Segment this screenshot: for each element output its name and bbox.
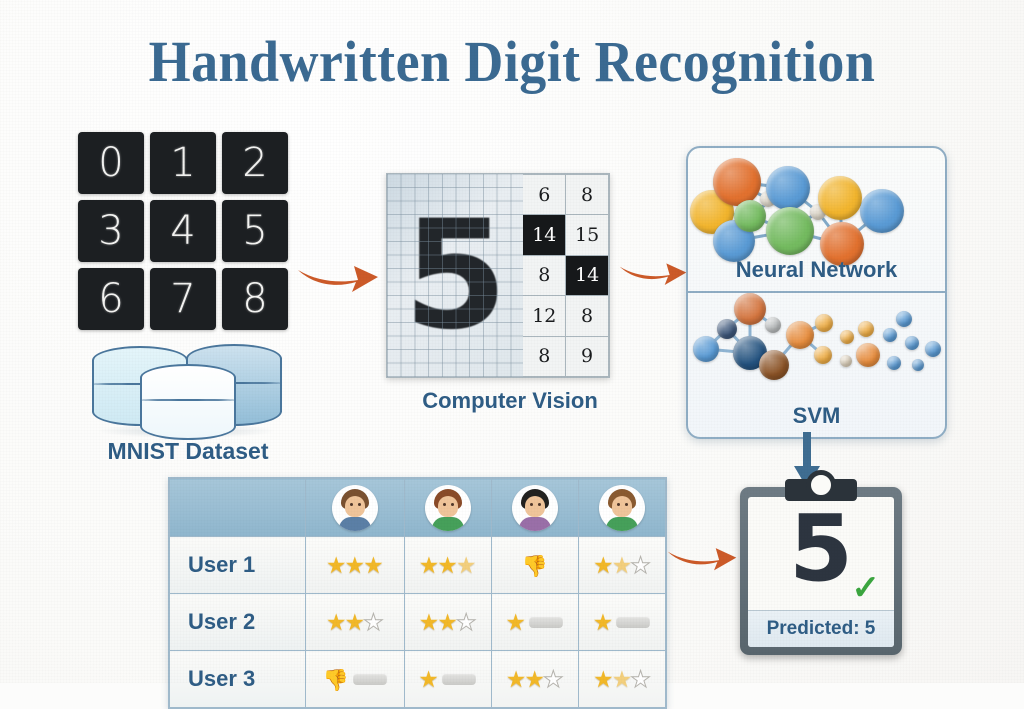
prediction-clipboard: 5 ✓ Predicted: 5: [740, 487, 902, 655]
star-full-icon: ★: [418, 668, 439, 691]
neural-network-section: Neural Network: [688, 148, 945, 293]
row-label: User 3: [170, 651, 306, 708]
svm-point: [815, 314, 833, 332]
neural-node: [734, 200, 766, 232]
rating-cell[interactable]: ★★★: [578, 651, 665, 708]
table-row[interactable]: User 2★★★★★★★★: [170, 594, 666, 651]
digit-tile: 3: [78, 200, 144, 262]
digit-tile: 5: [222, 200, 288, 262]
pixel-grid-lines: [387, 174, 523, 377]
rating-cell[interactable]: 👍: [306, 651, 405, 708]
star-empty-icon: ★: [630, 554, 651, 577]
placeholder-bar: [616, 616, 650, 628]
svm-label: SVM: [688, 403, 945, 429]
matrix-cell: 15: [566, 215, 608, 254]
svm-point: [896, 311, 912, 327]
svm-point: [734, 293, 766, 325]
digit-tile: 4: [150, 200, 216, 262]
page-title: Handwritten Digit Recognition: [36, 28, 988, 95]
svm-point: [759, 350, 789, 380]
svm-point: [765, 317, 781, 333]
svm-point: [693, 336, 719, 362]
row-label: User 1: [170, 537, 306, 594]
table-row[interactable]: User 1★★★★★★👍★★★: [170, 537, 666, 594]
database-cylinders-icon: [88, 338, 288, 430]
clipboard-page: 5 ✓ Predicted: 5: [748, 497, 894, 647]
star-empty-icon: ★: [363, 611, 384, 634]
svm-point: [814, 346, 832, 364]
star-full-icon: ★: [437, 554, 458, 577]
computer-vision-caption: Computer Vision: [380, 388, 640, 414]
row-label: User 2: [170, 594, 306, 651]
star-half-icon: ★: [612, 554, 633, 577]
rating-cell[interactable]: ★: [491, 594, 578, 651]
neural-node: [860, 189, 904, 233]
digit-tile: 7: [150, 268, 216, 330]
star-half-icon: ★: [612, 668, 633, 691]
digit-tile: 8: [222, 268, 288, 330]
rating-cell[interactable]: ★★★: [306, 537, 405, 594]
rating-cell[interactable]: ★★★: [404, 537, 491, 594]
matrix-cell: 8: [523, 256, 565, 295]
matrix-cell: 8: [566, 175, 608, 214]
computer-vision-panel: 5 68141581412889: [386, 173, 610, 378]
svm-point: [840, 355, 852, 367]
avatar: [332, 485, 378, 531]
matrix-cell: 8: [523, 337, 565, 376]
thumbs-down-icon: 👍: [522, 555, 548, 576]
thumbs-down-icon: 👍: [323, 669, 349, 690]
svm-point: [883, 328, 897, 342]
star-half-icon: ★: [456, 554, 477, 577]
digit-tile: 1: [150, 132, 216, 194]
models-card: Neural Network SVM: [686, 146, 947, 439]
placeholder-bar: [353, 673, 387, 685]
check-mark-icon: ✓: [852, 571, 881, 605]
neural-node: [766, 207, 814, 255]
star-empty-icon: ★: [630, 668, 651, 691]
avatar: [512, 485, 558, 531]
digit-tile: 2: [222, 132, 288, 194]
avatar-column-header[interactable]: [306, 479, 405, 537]
mnist-digit-grid: 012345678: [78, 132, 296, 330]
star-empty-icon: ★: [543, 668, 564, 691]
svm-point: [717, 319, 737, 339]
svm-point: [912, 359, 924, 371]
table-row[interactable]: User 3👍★★★★★★★: [170, 651, 666, 708]
matrix-cell: 12: [523, 296, 565, 335]
pixelated-digit-image: 5: [387, 174, 523, 377]
svm-point: [858, 321, 874, 337]
matrix-cell: 14: [523, 215, 565, 254]
digit-tile: 0: [78, 132, 144, 194]
arrow-right-icon-dataset-to-cv: [296, 252, 380, 301]
star-full-icon: ★: [505, 611, 526, 634]
table-corner-cell: [170, 479, 306, 537]
table-header-row: [170, 479, 666, 537]
rating-cell[interactable]: ★: [578, 594, 665, 651]
svm-point: [905, 336, 919, 350]
star-full-icon: ★: [593, 611, 614, 634]
neural-network-label: Neural Network: [688, 257, 945, 283]
avatar-column-header[interactable]: [404, 479, 491, 537]
avatar-column-header[interactable]: [491, 479, 578, 537]
rating-cell[interactable]: ★: [404, 651, 491, 708]
avatar-column-header[interactable]: [578, 479, 665, 537]
svm-point: [856, 343, 880, 367]
rating-cell[interactable]: ★★★: [491, 651, 578, 708]
neural-node: [818, 176, 862, 220]
rating-cell[interactable]: ★★★: [306, 594, 405, 651]
mnist-dataset-caption: MNIST Dataset: [58, 438, 318, 465]
neural-node: [766, 166, 810, 210]
rating-cell[interactable]: ★★★: [404, 594, 491, 651]
pixel-value-matrix: 68141581412889: [523, 174, 609, 377]
matrix-cell: 14: [566, 256, 608, 295]
star-full-icon: ★: [344, 611, 365, 634]
prediction-label: Predicted: 5: [748, 610, 894, 647]
avatar: [425, 485, 471, 531]
matrix-cell: 6: [523, 175, 565, 214]
star-full-icon: ★: [363, 554, 384, 577]
svm-point: [840, 330, 854, 344]
neural-node: [713, 158, 761, 206]
digit-tile: 6: [78, 268, 144, 330]
matrix-cell: 9: [566, 337, 608, 376]
star-full-icon: ★: [593, 668, 614, 691]
star-full-icon: ★: [344, 554, 365, 577]
star-full-icon: ★: [437, 611, 458, 634]
user-ratings-table[interactable]: User 1★★★★★★👍★★★User 2★★★★★★★★User 3👍★★★…: [168, 477, 667, 709]
svm-point: [887, 356, 901, 370]
svm-point: [786, 321, 814, 349]
infographic-canvas: Handwritten Digit Recognition 012345678 …: [0, 0, 1024, 683]
placeholder-bar: [529, 616, 563, 628]
rating-cell[interactable]: 👍: [491, 537, 578, 594]
avatar: [599, 485, 645, 531]
clipboard-ring: [806, 470, 836, 500]
placeholder-bar: [442, 673, 476, 685]
arrow-right-icon-cv-to-models: [618, 248, 688, 297]
star-full-icon: ★: [593, 554, 614, 577]
arrow-right-icon-table-to-result: [666, 533, 738, 582]
matrix-cell: 8: [566, 296, 608, 335]
rating-cell[interactable]: ★★★: [578, 537, 665, 594]
svm-section: SVM: [688, 293, 945, 438]
star-empty-icon: ★: [456, 611, 477, 634]
star-full-icon: ★: [524, 668, 545, 691]
svm-point: [925, 341, 941, 357]
